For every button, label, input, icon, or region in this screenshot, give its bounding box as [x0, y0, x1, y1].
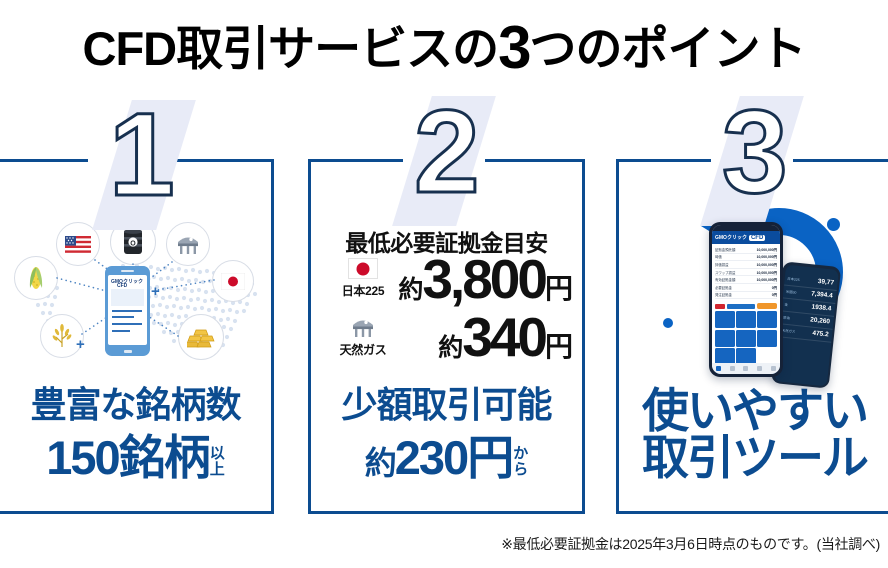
action-button[interactable]: [757, 303, 777, 309]
phone-text-line: [112, 316, 134, 318]
point-panel-2: 最低必要証拠金目安 日本225 約3,800円: [308, 159, 585, 514]
panel-2-caption-line2: 約230円から: [311, 434, 582, 481]
panel-1-caption-line2: 150銘柄以上: [0, 434, 271, 481]
progress-bar: [727, 304, 755, 309]
alert-badge: [715, 304, 725, 309]
app-logo-gmo: GMOクリック: [715, 234, 747, 241]
secondary-phone-screen: 日本225 39,77 米国30 7,394.4 金 1938.4 原油 20,…: [774, 264, 839, 386]
nav-item-rates[interactable]: [730, 366, 735, 371]
plus-sign-icon: +: [76, 336, 85, 353]
panel-2-approx: 約: [365, 445, 395, 481]
menu-tile[interactable]: [715, 311, 735, 328]
menu-tile[interactable]: [757, 311, 777, 328]
dot-decoration: [827, 218, 840, 231]
panel-2-caption-line1: 少額取引可能: [311, 387, 582, 423]
phone-text-line: [112, 323, 142, 325]
balance-row: 必要証拠金 0円: [715, 284, 777, 292]
balance-row: 証拠金預託額 10,000,000円: [715, 246, 777, 254]
app-bottom-nav: [712, 363, 780, 374]
phone-home-indicator: [124, 350, 132, 353]
point-panel-3: 日本225 39,77 米国30 7,394.4 金 1938.4 原油 20,…: [616, 159, 888, 514]
panel-1-caption-line1: 豊富な銘柄数: [0, 387, 271, 423]
menu-tile[interactable]: [736, 311, 756, 328]
points-panel-row: O: [0, 159, 888, 514]
panel-1-caption-ruby: 以上: [210, 446, 225, 477]
panel-3-caption-line2: 取引ツール: [619, 434, 888, 481]
panel-2-caption-ruby: から: [513, 446, 528, 477]
menu-tile[interactable]: [757, 330, 777, 347]
gas-storage-icon: [348, 316, 378, 338]
app-header: GMOクリック CFD: [712, 231, 780, 244]
plus-sign-icon: +: [151, 283, 160, 300]
balance-row: 発注証拠金 0円: [715, 292, 777, 300]
app-toolbar: [712, 301, 780, 311]
nav-item-chart[interactable]: [743, 366, 748, 371]
panel-2-numeral-notch: [403, 159, 485, 162]
title-text-after: つのポイント: [529, 22, 805, 75]
margin-row-label: 天然ガス: [329, 341, 397, 358]
nav-item-home[interactable]: [716, 366, 721, 371]
phone-screen: GMOクリック CFD: [108, 275, 147, 345]
balance-row: 有効証拠金額 10,000,000円: [715, 276, 777, 284]
primary-phone-screen: GMOクリック CFD 証拠金預託額 10,000,000円 時価 10,000…: [712, 225, 780, 374]
panel-1-numeral-notch: [88, 159, 166, 162]
panel-3-caption-line1: 使いやすい: [619, 387, 888, 434]
margin-row-label: 日本225: [329, 282, 397, 299]
primary-phone: GMOクリック CFD 証拠金預託額 10,000,000円 時価 10,000…: [709, 222, 783, 377]
menu-tile[interactable]: [715, 330, 735, 347]
balance-table: 証拠金預託額 10,000,000円 時価 10,000,000円 評価損益 1…: [712, 244, 780, 301]
margin-row-amount: 約3,800円: [398, 252, 572, 307]
footnote: ※最低必要証拠金は2025年3月6日時点のものです。(当社調べ): [501, 534, 880, 554]
phone-text-line: [112, 310, 142, 312]
point-panel-1: O: [0, 159, 274, 514]
app-menu-grid: [712, 311, 780, 365]
panel-1-stat-value: 150銘柄: [46, 431, 208, 484]
margin-row-tag: 日本225: [329, 258, 397, 299]
panel-1-phone: GMOクリック CFD: [105, 266, 150, 356]
panel-3-numeral-notch: [711, 159, 793, 162]
balance-row: 評価損益 10,000,000円: [715, 261, 777, 269]
app-logo-cfd: CFD: [749, 235, 765, 241]
phone-notch: [121, 270, 134, 272]
balance-row: 時価 10,000,000円: [715, 254, 777, 262]
phone-banner: [111, 289, 144, 306]
panel-2-stat-value: 230円: [395, 431, 512, 484]
title-text-before: CFD取引サービスの: [83, 22, 499, 75]
nav-item-orders[interactable]: [757, 366, 762, 371]
menu-tile[interactable]: [736, 330, 756, 347]
margin-row-natgas: 天然ガス 約340円: [311, 316, 582, 374]
phone-text-line: [112, 330, 130, 332]
balance-row: スワップ損益 10,000,000円: [715, 269, 777, 277]
panel-1-artwork: O: [0, 218, 271, 374]
japan-flag-icon: [348, 258, 378, 279]
title-number: 3: [498, 14, 529, 81]
nav-item-menu[interactable]: [771, 366, 776, 371]
margin-row-amount: 約340円: [438, 310, 572, 365]
dot-decoration: [663, 318, 673, 328]
panel-3-artwork: 日本225 39,77 米国30 7,394.4 金 1938.4 原油 20,…: [619, 190, 888, 385]
page-title: CFD取引サービスの3つのポイント: [0, 18, 888, 78]
margin-row-tag: 天然ガス: [329, 316, 397, 358]
